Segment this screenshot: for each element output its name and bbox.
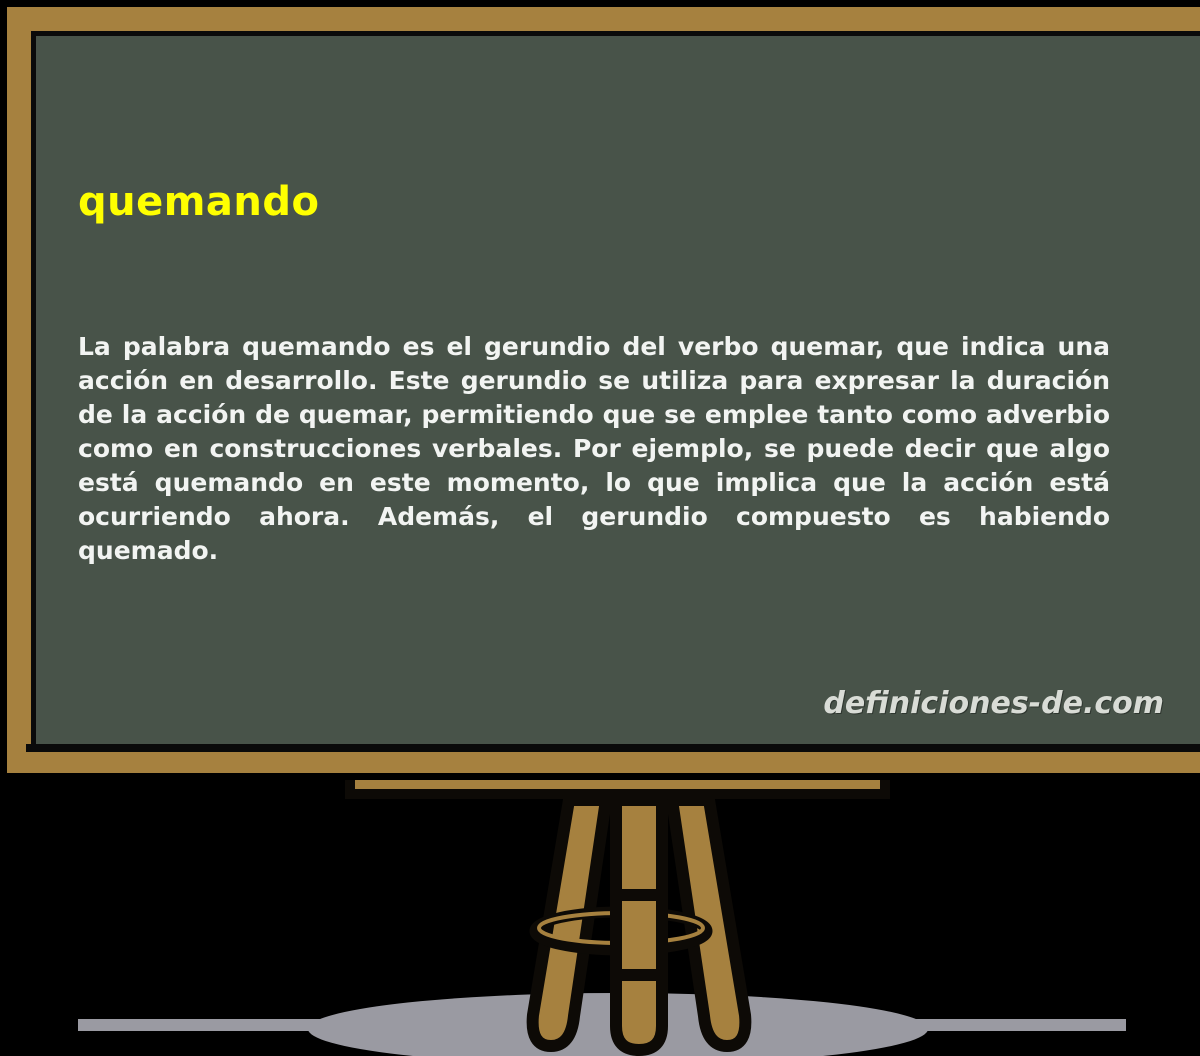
chalkboard-content: quemando La palabra quemando es el gerun… xyxy=(78,178,1118,602)
floor-shadow xyxy=(78,993,1126,1056)
definition-text: La palabra quemando es el gerundio del v… xyxy=(78,330,1110,602)
center-leg-overlap xyxy=(616,895,662,975)
site-watermark: definiciones-de.com xyxy=(823,686,1164,722)
page-title: quemando xyxy=(78,178,1118,226)
chalkboard-surface-bottom-edge xyxy=(26,744,1200,752)
chalkboard-frame-bottom-edge xyxy=(0,773,1200,780)
chalkboard-scene: quemando La palabra quemando es el gerun… xyxy=(0,0,1200,1056)
